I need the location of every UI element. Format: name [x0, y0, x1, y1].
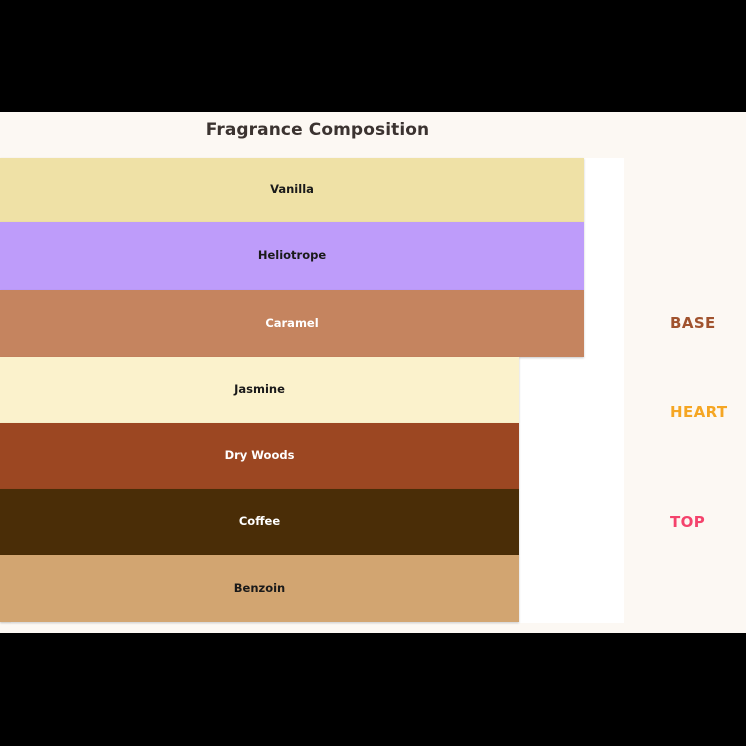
screenshot-root: Fragrance Composition Vanilla Heliotrope…: [0, 0, 746, 746]
bar-label: Vanilla: [270, 184, 314, 196]
bar-jasmine[interactable]: Jasmine: [0, 357, 519, 423]
chart-title: Fragrance Composition: [0, 120, 635, 140]
bar-label: Heliotrope: [258, 250, 326, 262]
group-label-text: HEART: [670, 403, 728, 421]
bar-caramel[interactable]: Caramel: [0, 290, 584, 357]
group-label-text: BASE: [670, 314, 716, 332]
chart-figure: Fragrance Composition Vanilla Heliotrope…: [0, 112, 746, 633]
bar-benzoin[interactable]: Benzoin: [0, 555, 519, 622]
letterbox-top: [0, 0, 746, 112]
bar-label: Jasmine: [234, 384, 285, 396]
bar-label: Dry Woods: [225, 450, 295, 462]
bar-vanilla[interactable]: Vanilla: [0, 158, 584, 222]
group-label-base: BASE: [670, 314, 716, 332]
group-label-top: TOP: [670, 513, 705, 531]
bar-dry-woods[interactable]: Dry Woods: [0, 423, 519, 489]
bar-coffee[interactable]: Coffee: [0, 489, 519, 555]
letterbox-bottom: [0, 633, 746, 746]
bar-label: Coffee: [239, 516, 280, 528]
group-label-heart: HEART: [670, 403, 728, 421]
group-label-text: TOP: [670, 513, 705, 531]
bar-label: Benzoin: [234, 583, 285, 595]
bar-label: Caramel: [265, 318, 318, 330]
bar-heliotrope[interactable]: Heliotrope: [0, 222, 584, 290]
